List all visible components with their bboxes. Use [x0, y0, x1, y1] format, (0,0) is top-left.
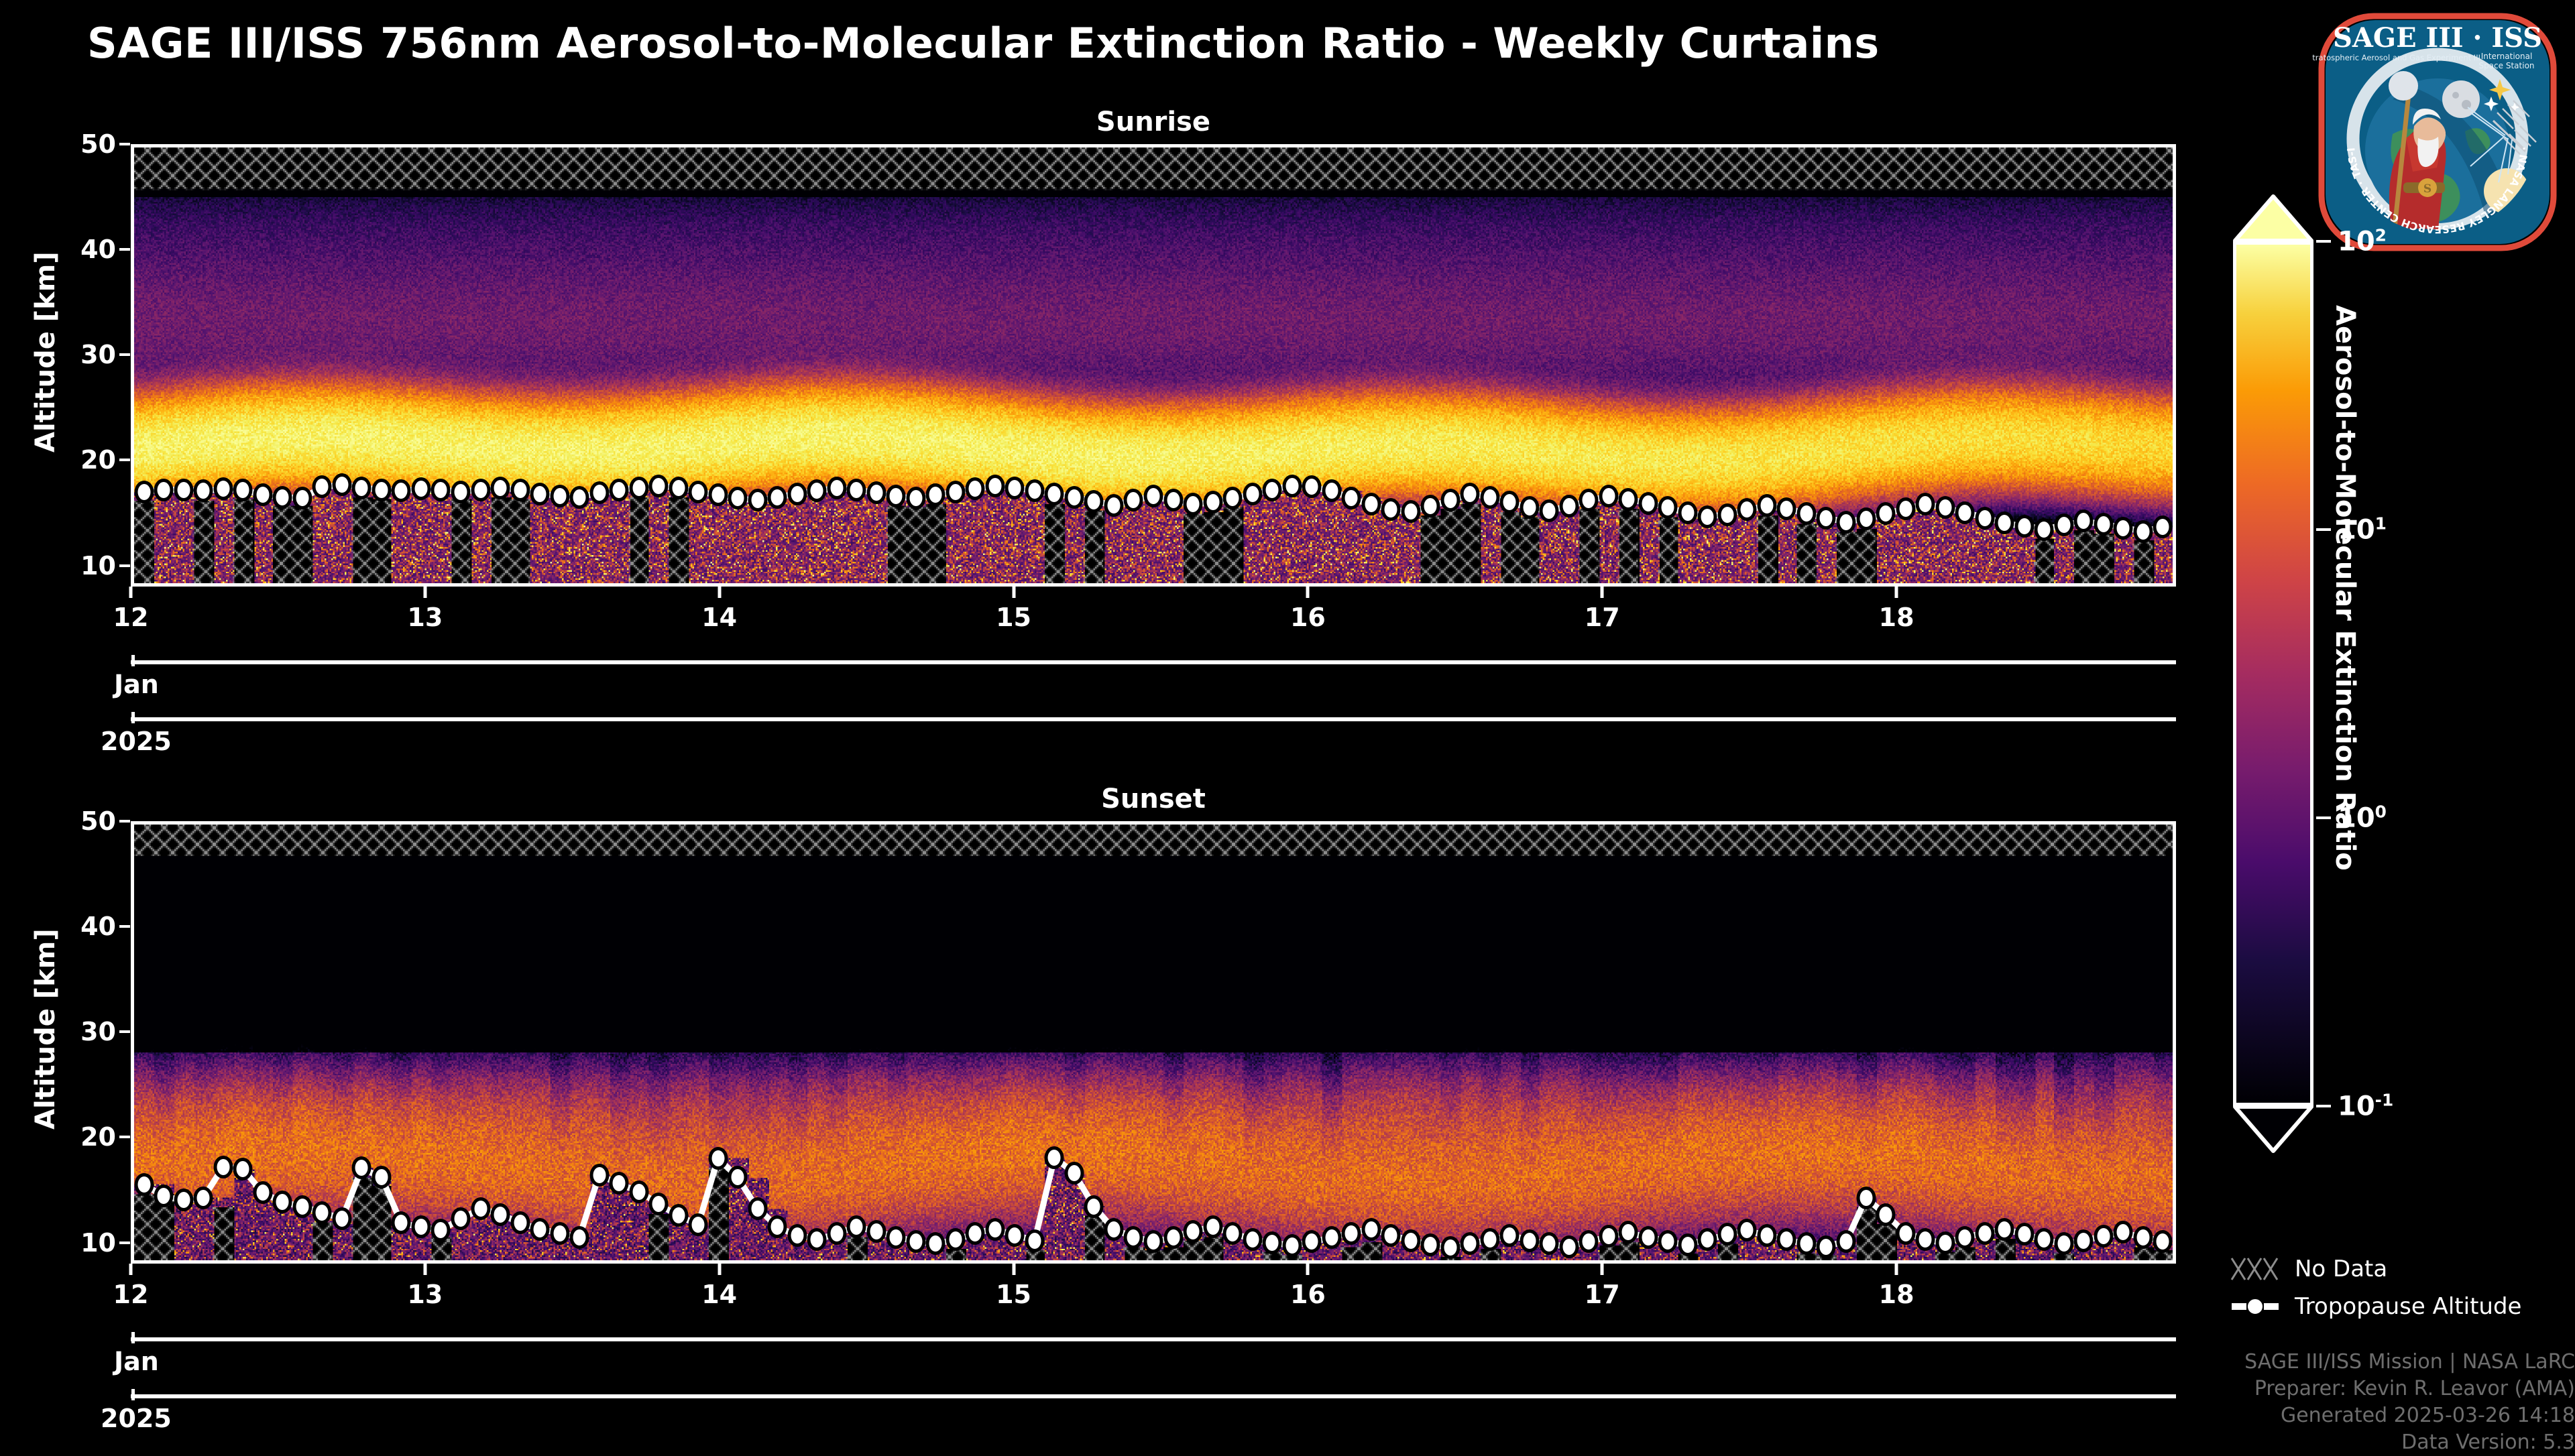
- sunrise-ytick-50: 50: [57, 129, 116, 159]
- tropopause-marker: [1638, 1226, 1658, 1249]
- tropopause-marker: [371, 1166, 391, 1189]
- tropopause-marker: [1777, 1228, 1796, 1251]
- sunset-ytick-20: 20: [57, 1122, 116, 1152]
- tropopause-marker: [2094, 513, 2113, 536]
- tropopause-marker: [1124, 489, 1143, 511]
- tropopause-marker: [1401, 500, 1420, 523]
- tropopause-marker: [2035, 1228, 2054, 1251]
- tropopause-marker: [1440, 1236, 1460, 1259]
- tropopause-marker: [1500, 491, 1520, 513]
- sunset-xtick-18: 18: [1879, 1280, 1914, 1309]
- tropopause-marker: [253, 483, 272, 506]
- tropopause-marker: [689, 481, 708, 503]
- tropopause-marker: [946, 481, 965, 503]
- tropopause-marker: [213, 1156, 233, 1178]
- sunset-xtickmark-14: [718, 1264, 721, 1275]
- sunrise-month-level-nub: [131, 655, 135, 666]
- tropopause-marker: [748, 489, 767, 511]
- sunset-year-label: 2025: [101, 1404, 172, 1433]
- tropopause-marker: [926, 483, 946, 506]
- tropopause-marker: [134, 1173, 154, 1196]
- sunrise-ytickmark-30: [119, 353, 130, 356]
- tropopause-marker: [312, 475, 332, 498]
- tropopause-marker: [1282, 475, 1302, 497]
- tropopause-marker: [570, 486, 589, 509]
- tropopause-marker: [847, 479, 866, 501]
- tropopause-marker: [1599, 1225, 1618, 1248]
- tropopause-marker: [2014, 1223, 2034, 1246]
- tropopause-marker: [2074, 509, 2094, 532]
- colorbar-tick-mark-1: [2316, 528, 2331, 531]
- tropopause-marker: [392, 479, 411, 502]
- tropopause-marker: [1480, 486, 1499, 509]
- tropopause-marker: [708, 1147, 728, 1170]
- colorbar-tick-mark-0: [2316, 240, 2331, 243]
- tropopause-marker: [1163, 1226, 1183, 1249]
- panel-sunset: Sunset: [131, 821, 2176, 1264]
- tropopause-marker: [1837, 1230, 1856, 1253]
- tropopause-marker: [1658, 496, 1678, 519]
- tropopause-marker: [906, 487, 925, 509]
- tropopause-marker: [1678, 1233, 1697, 1256]
- tropopause-marker: [1777, 497, 1796, 520]
- tropopause-marker: [194, 479, 213, 502]
- sunrise-ytickmark-40: [119, 248, 130, 251]
- tropopause-marker: [550, 1222, 569, 1245]
- tropopause-marker: [273, 486, 292, 509]
- tropopause-marker: [1559, 495, 1579, 518]
- sunset-xtickmark-18: [1895, 1264, 1898, 1275]
- colorbar-extend-min: [2233, 1105, 2313, 1153]
- tropopause-marker: [669, 1204, 688, 1227]
- sunrise-xtickmark-17: [1601, 587, 1604, 598]
- tropopause-marker: [154, 479, 174, 501]
- sunset-ytick-10: 10: [57, 1228, 116, 1258]
- hatch-icon: [2230, 1256, 2280, 1282]
- tropopause-marker: [1461, 483, 1480, 505]
- legend-label-tropopause: Tropopause Altitude: [2295, 1293, 2521, 1320]
- tropopause-marker: [1401, 1229, 1420, 1252]
- tropopause-marker: [332, 473, 351, 496]
- tropopause-marker: [866, 1220, 886, 1243]
- footer-line-4: Data Version: 5.3: [2079, 1429, 2575, 1456]
- legend-item-no-data: No Data: [2230, 1250, 2566, 1288]
- tropopause-marker: [451, 481, 470, 503]
- tropopause-marker: [847, 1215, 866, 1238]
- tropopause-marker: [1796, 1232, 1816, 1255]
- tropopause-marker: [411, 1215, 431, 1238]
- tropopause-marker: [1144, 1230, 1163, 1253]
- tropopause-marker: [1184, 493, 1203, 515]
- tropopause-marker: [194, 1187, 213, 1209]
- sunrise-ytickmark-20: [119, 459, 130, 461]
- tropopause-marker: [966, 1222, 985, 1245]
- sunrise-month-label: Jan: [114, 670, 159, 699]
- tropopause-marker: [1955, 1226, 1975, 1249]
- tropopause-marker: [748, 1197, 767, 1220]
- tropopause-marker: [174, 1189, 193, 1211]
- tropopause-marker: [807, 1228, 827, 1251]
- tropopause-marker: [649, 1193, 669, 1215]
- sunrise-xtickmark-14: [718, 587, 721, 598]
- sunrise-ytickmark-10: [119, 564, 130, 567]
- tropopause-marker: [1817, 1235, 1836, 1258]
- tropopause-marker: [1837, 511, 1856, 534]
- tropopause-marker: [610, 479, 629, 501]
- sunrise-ytick-10: 10: [57, 551, 116, 581]
- sunrise-xtick-13: 13: [407, 603, 443, 632]
- tropopause-marker: [827, 477, 846, 499]
- tropopause-marker: [1045, 1146, 1064, 1169]
- tropopause-marker: [728, 487, 748, 509]
- tropopause-marker: [1203, 1215, 1222, 1238]
- tropopause-marker: [1322, 479, 1341, 502]
- sunrise-xtick-17: 17: [1585, 603, 1620, 632]
- sunrise-ytick-20: 20: [57, 445, 116, 475]
- tropopause-marker: [629, 1180, 648, 1203]
- tropopause-marker: [1084, 490, 1104, 513]
- colorbar-gradient: [2233, 241, 2313, 1106]
- sunset-ytick-50: 50: [57, 806, 116, 836]
- tropopause-marker: [866, 481, 886, 504]
- tropopause-marker: [292, 487, 312, 509]
- tropopause-marker: [471, 1197, 490, 1220]
- sunset-ytickmark-40: [119, 925, 130, 928]
- colorbar-extend-max: [2233, 194, 2313, 243]
- tropopause-marker: [1796, 502, 1816, 525]
- sunset-ytickmark-50: [119, 820, 130, 823]
- tropopause-marker: [1243, 1228, 1262, 1251]
- tropopause-marker: [431, 1219, 451, 1241]
- tropopause-marker: [2133, 1226, 2153, 1249]
- tropopause-marker: [1737, 498, 1757, 521]
- tropopause-marker: [2153, 515, 2173, 538]
- sunset-xtick-16: 16: [1290, 1280, 1326, 1309]
- tropopause-marker: [1302, 475, 1322, 498]
- tropopause-marker: [610, 1172, 629, 1195]
- tropopause-marker: [1817, 507, 1836, 530]
- tropopause-marker: [1579, 1230, 1599, 1253]
- tropopause-marker: [1421, 495, 1440, 518]
- tropopause-marker: [768, 486, 787, 509]
- tropopause-marker: [1342, 1222, 1361, 1245]
- tropopause-marker: [1757, 494, 1776, 517]
- tropopause-marker: [1678, 501, 1697, 524]
- tropopause-marker: [273, 1191, 292, 1213]
- svg-text:Space Station: Space Station: [2478, 61, 2534, 70]
- tropopause-marker: [292, 1195, 312, 1218]
- sunrise-year-label: 2025: [101, 727, 172, 756]
- sunset-month-level-nub: [131, 1332, 135, 1343]
- sunrise-ytickmark-50: [119, 143, 130, 145]
- colorbar-axis-label: Aerosol-to-Molecular Extinction Ratio: [2330, 305, 2360, 871]
- sunset-xtick-14: 14: [701, 1280, 737, 1309]
- colorbar-tick-mark-2: [2316, 816, 2331, 819]
- tropopause-marker: [1263, 1231, 1282, 1254]
- tropopause-marker: [1243, 483, 1262, 505]
- tropopause-marker: [2153, 1230, 2173, 1253]
- sunrise-xtick-15: 15: [996, 603, 1031, 632]
- sunset-xtickmark-13: [423, 1264, 426, 1275]
- tropopause-marker: [1540, 1232, 1559, 1255]
- tropopause-marker: [1698, 505, 1717, 528]
- tropopause-marker: [491, 1203, 510, 1226]
- sunset-xtickmark-17: [1601, 1264, 1604, 1275]
- sunrise-xtick-16: 16: [1290, 603, 1326, 632]
- tropopause-marker: [1975, 507, 1994, 530]
- tropopause-marker: [1322, 1226, 1341, 1249]
- tropopause-marker: [1084, 1195, 1104, 1218]
- sunset-ytick-30: 30: [57, 1017, 116, 1046]
- svg-text:Stratospheric Aerosol and Gas: Stratospheric Aerosol and Gas Experiment…: [2312, 53, 2480, 62]
- tropopause-marker: [886, 1226, 906, 1249]
- tropopause-marker: [708, 483, 728, 506]
- tropopause-marker: [1619, 488, 1638, 511]
- tropopause-marker: [1935, 1231, 1955, 1254]
- tropopause-marker: [174, 479, 193, 501]
- sunrise-ytick-30: 30: [57, 340, 116, 369]
- tropopause-marker: [1144, 485, 1163, 507]
- tropopause-marker: [2035, 518, 2054, 541]
- tropopause-line-marker-icon: [2230, 1293, 2280, 1320]
- sunrise-year-level-nub: [131, 712, 135, 723]
- tropopause-marker: [1757, 1224, 1776, 1247]
- tropopause-marker: [1916, 1228, 1935, 1251]
- sunset-ytick-40: 40: [57, 912, 116, 941]
- tropopause-marker: [1223, 1222, 1243, 1245]
- tropopause-marker: [154, 1185, 174, 1207]
- tropopause-marker: [1124, 1226, 1143, 1249]
- tropopause-marker: [233, 479, 253, 501]
- tropopause-marker: [1737, 1219, 1757, 1241]
- tropopause-marker: [1480, 1228, 1499, 1251]
- tropopause-marker: [827, 1222, 846, 1245]
- tropopause-marker: [1559, 1235, 1579, 1258]
- tropopause-marker: [530, 483, 550, 505]
- tropopause-marker: [1361, 1218, 1381, 1241]
- tropopause-marker: [1856, 1187, 1876, 1209]
- tropopause-marker: [985, 475, 1005, 497]
- tropopause-marker: [1500, 1224, 1520, 1247]
- footer-credits: SAGE III/ISS Mission | NASA LaRC Prepare…: [2079, 1349, 2575, 1456]
- sunrise-month-level-bar: [131, 660, 2176, 664]
- tropopause-marker: [1282, 1234, 1302, 1257]
- tropopause-marker: [787, 1224, 807, 1247]
- colorbar[interactable]: 10210110010-1: [2233, 194, 2313, 1153]
- tropopause-marker: [689, 1213, 708, 1236]
- tropopause-marker: [768, 1215, 787, 1238]
- tropopause-marker: [1975, 1222, 1994, 1245]
- tropopause-marker: [352, 477, 371, 499]
- tropopause-marker: [312, 1201, 332, 1224]
- tropopause-marker: [1717, 1223, 1737, 1246]
- tropopause-marker: [371, 479, 391, 501]
- sunrise-xtickmark-16: [1306, 587, 1310, 598]
- tropopause-marker: [1025, 1229, 1044, 1252]
- tropopause-marker: [669, 477, 688, 499]
- tropopause-marker: [1698, 1228, 1717, 1251]
- sunrise-ytick-40: 40: [57, 235, 116, 264]
- sunrise-xtickmark-12: [129, 587, 133, 598]
- tropopause-marker: [253, 1181, 272, 1204]
- sunset-ytickmark-30: [119, 1030, 130, 1033]
- tropopause-marker: [1421, 1233, 1440, 1256]
- tropopause-marker: [1896, 1222, 1915, 1245]
- tropopause-marker: [2054, 513, 2073, 536]
- tropopause-marker: [2114, 1221, 2133, 1243]
- sunset-year-level-nub: [131, 1389, 135, 1400]
- footer-line-1: SAGE III/ISS Mission | NASA LaRC: [2079, 1349, 2575, 1376]
- panel-sunrise: Sunrise: [131, 144, 2176, 587]
- sunset-month-level-bar: [131, 1337, 2176, 1341]
- tropopause-marker: [451, 1207, 470, 1230]
- tropopause-marker: [1638, 492, 1658, 515]
- tropopause-marker: [1005, 477, 1025, 499]
- colorbar-tick-mark-3: [2316, 1105, 2331, 1107]
- sunset-xtick-15: 15: [996, 1280, 1031, 1309]
- tropopause-marker: [1064, 1162, 1084, 1185]
- sunset-ytickmark-20: [119, 1136, 130, 1138]
- tropopause-marker: [352, 1156, 371, 1179]
- tropopause-marker: [1302, 1230, 1322, 1253]
- tropopause-marker: [1005, 1224, 1025, 1247]
- tropopause-marker: [1440, 489, 1460, 511]
- tropopause-marker: [946, 1228, 965, 1251]
- tropopause-marker: [787, 483, 807, 505]
- svg-text:S: S: [2423, 182, 2431, 196]
- tropopause-marker: [1184, 1220, 1203, 1243]
- tropopause-marker: [1045, 483, 1064, 505]
- tropopause-marker: [530, 1218, 550, 1241]
- colorbar-tick-label-0: 102: [2338, 225, 2387, 257]
- tropopause-marker: [392, 1211, 411, 1234]
- tropopause-marker: [1263, 479, 1282, 501]
- svg-text:International: International: [2481, 52, 2533, 61]
- panel-sunset-title: Sunset: [131, 784, 2176, 814]
- tropopause-marker: [985, 1218, 1005, 1241]
- sunset-month-label: Jan: [114, 1347, 159, 1376]
- tropopause-marker: [906, 1230, 925, 1253]
- tropopause-marker: [2133, 520, 2153, 543]
- tropopause-marker: [1619, 1221, 1638, 1243]
- tropopause-marker: [134, 481, 154, 503]
- tropopause-marker: [2014, 515, 2034, 538]
- page-title: SAGE III/ISS 756nm Aerosol-to-Molecular …: [87, 19, 1880, 68]
- tropopause-marker: [589, 481, 609, 504]
- sunrise-xtickmark-15: [1012, 587, 1015, 598]
- tropopause-marker: [491, 477, 510, 499]
- footer-line-3: Generated 2025-03-26 14:18: [2079, 1402, 2575, 1429]
- tropopause-marker: [2074, 1229, 2094, 1252]
- tropopause-marker: [728, 1166, 748, 1189]
- sunset-xtickmark-16: [1306, 1264, 1310, 1275]
- tropopause-marker: [1856, 507, 1876, 530]
- tropopause-marker: [1361, 493, 1381, 515]
- tropopause-marker: [1916, 493, 1935, 515]
- sunset-xtick-12: 12: [113, 1280, 149, 1309]
- tropopause-marker: [2114, 517, 2133, 540]
- sunset-plot-area[interactable]: [131, 821, 2176, 1264]
- sunrise-year-level-bar: [131, 717, 2176, 721]
- sunrise-xtickmark-13: [423, 587, 426, 598]
- tropopause-marker: [1381, 1224, 1401, 1247]
- tropopause-marker: [2094, 1225, 2113, 1248]
- tropopause-marker: [570, 1226, 589, 1249]
- tropopause-marker: [629, 477, 648, 499]
- tropopause-marker: [1579, 489, 1599, 511]
- tropopause-marker: [1104, 1218, 1123, 1241]
- footer-line-2: Preparer: Kevin R. Leavor (AMA): [2079, 1376, 2575, 1402]
- legend: No Data Tropopause Altitude: [2230, 1250, 2566, 1325]
- tropopause-marker: [1717, 503, 1737, 526]
- tropopause-marker: [807, 479, 827, 502]
- tropopause-marker: [510, 479, 530, 501]
- tropopause-marker: [926, 1232, 946, 1255]
- tropopause-marker: [1995, 511, 2014, 534]
- tropopause-marker: [213, 477, 233, 500]
- tropopause-marker: [471, 479, 490, 501]
- tropopause-marker: [1025, 479, 1044, 502]
- tropopause-marker: [1342, 487, 1361, 509]
- legend-item-tropopause: Tropopause Altitude: [2230, 1288, 2566, 1325]
- sunset-ytickmark-10: [119, 1241, 130, 1244]
- sunset-xtick-17: 17: [1585, 1280, 1620, 1309]
- tropopause-marker: [1876, 502, 1896, 525]
- sunrise-xtick-12: 12: [113, 603, 149, 632]
- tropopause-marker: [1520, 1229, 1539, 1252]
- panel-sunrise-title: Sunrise: [131, 107, 2176, 137]
- tropopause-marker: [1995, 1218, 2014, 1241]
- tropopause-marker: [1935, 496, 1955, 519]
- legend-label-no-data: No Data: [2295, 1256, 2387, 1282]
- tropopause-marker: [1520, 496, 1539, 519]
- tropopause-marker: [1203, 491, 1222, 513]
- tropopause-marker: [1540, 499, 1559, 522]
- sunset-xtick-13: 13: [407, 1280, 443, 1309]
- svg-text:SAGE III · ISS: SAGE III · ISS: [2333, 22, 2542, 54]
- sage-iii-iss-logo: S BALL · NASA LANGLEY RESEARCH CENTER · …: [2312, 7, 2563, 257]
- sunrise-xtickmark-18: [1895, 587, 1898, 598]
- tropopause-marker: [233, 1158, 253, 1180]
- sunrise-plot-area[interactable]: [131, 144, 2176, 587]
- tropopause-marker: [1658, 1230, 1678, 1253]
- tropopause-marker: [886, 485, 906, 507]
- tropopause-marker: [1381, 498, 1401, 521]
- tropopause-marker: [1104, 494, 1123, 517]
- colorbar-tick-label-3: 10-1: [2338, 1090, 2393, 1121]
- tropopause-marker: [1599, 485, 1618, 507]
- tropopause-marker: [1223, 487, 1243, 509]
- tropopause-marker: [1955, 501, 1975, 524]
- tropopause-marker: [966, 477, 985, 500]
- sunrise-xtick-14: 14: [701, 603, 737, 632]
- tropopause-marker: [411, 477, 431, 500]
- tropopause-marker: [510, 1211, 530, 1234]
- tropopause-marker: [550, 485, 569, 507]
- tropopause-marker: [1876, 1203, 1896, 1226]
- sunset-year-level-bar: [131, 1394, 2176, 1398]
- tropopause-marker: [431, 479, 451, 501]
- sunrise-tropopause-overlay: [134, 147, 2173, 583]
- tropopause-marker: [1163, 489, 1183, 511]
- tropopause-marker: [2054, 1232, 2073, 1255]
- sunset-xtickmark-12: [129, 1264, 133, 1275]
- tropopause-marker: [1461, 1232, 1480, 1255]
- tropopause-marker: [589, 1164, 609, 1187]
- tropopause-marker: [1896, 497, 1915, 520]
- tropopause-marker: [332, 1207, 351, 1230]
- sunset-xtickmark-15: [1012, 1264, 1015, 1275]
